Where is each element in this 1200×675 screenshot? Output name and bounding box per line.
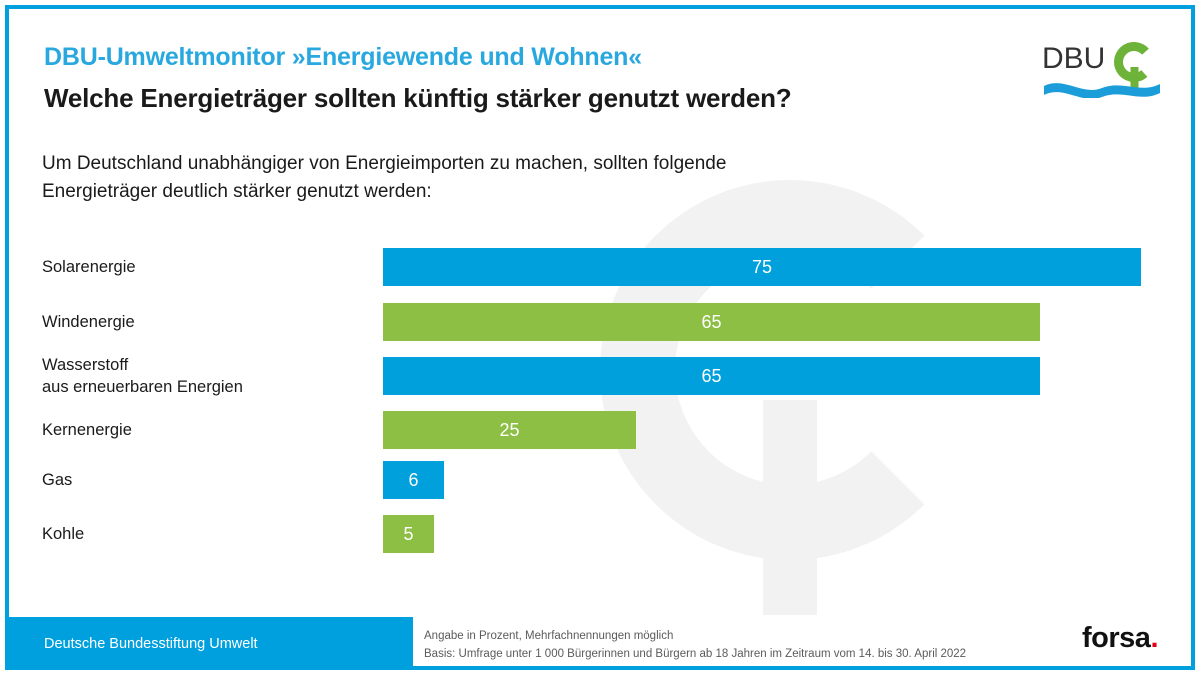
forsa-wordmark: forsa (1082, 622, 1150, 654)
kicker-title: DBU-Umweltmonitor »Energiewende und Wohn… (44, 44, 1004, 72)
bar-label: Gas (42, 469, 72, 491)
chart-row: Gas6 (0, 461, 1200, 499)
forsa-dot: . (1150, 622, 1158, 654)
chart-row: Wasserstoffaus erneuerbaren Energien65 (0, 357, 1200, 395)
bar-value-label: 5 (403, 525, 413, 543)
bar-label-line-1: Windenergie (42, 313, 135, 331)
question-line-2: Energieträger deutlich stärker genutzt w… (42, 178, 942, 206)
bar-value-label: 6 (408, 471, 418, 489)
bar-value-label: 75 (752, 258, 772, 276)
bar-label-line-1: Solarenergie (42, 258, 136, 276)
header-block: DBU-Umweltmonitor »Energiewende und Wohn… (44, 44, 1004, 113)
chart-row: Windenergie65 (0, 303, 1200, 341)
bar-value-label: 25 (499, 421, 519, 439)
chart-row: Solarenergie75 (0, 248, 1200, 286)
chart-row: Kohle5 (0, 515, 1200, 553)
bar: 75 (383, 248, 1141, 286)
bar-label: Wasserstoffaus erneuerbaren Energien (42, 354, 243, 399)
bar: 65 (383, 303, 1040, 341)
bar-label: Kohle (42, 523, 84, 545)
dbu-leaf-icon (1106, 36, 1162, 90)
bar-label: Windenergie (42, 311, 135, 333)
bar-label-line-2: aus erneuerbaren Energien (42, 378, 243, 396)
bar: 6 (383, 461, 444, 499)
bar-label: Solarenergie (42, 256, 136, 278)
bar-value-label: 65 (701, 367, 721, 385)
bar-chart: Solarenergie75Windenergie65Wasserstoffau… (0, 240, 1200, 560)
bar: 65 (383, 357, 1040, 395)
chart-row: Kernenergie25 (0, 411, 1200, 449)
page-title: Welche Energieträger sollten künftig stä… (44, 84, 1004, 114)
footnotes: Angabe in Prozent, Mehrfachnennungen mög… (424, 628, 966, 664)
bar-label-line-1: Kernenergie (42, 421, 132, 439)
bar-value-label: 65 (701, 313, 721, 331)
bar-label: Kernenergie (42, 419, 132, 441)
infographic-poster: DBU-Umweltmonitor »Energiewende und Wohn… (0, 0, 1200, 675)
forsa-logo: forsa. (1082, 624, 1158, 653)
footnote-unit: Angabe in Prozent, Mehrfachnennungen mög… (424, 628, 966, 646)
bar-label-line-1: Gas (42, 471, 72, 489)
footer-organisation-label: Deutsche Bundesstiftung Umwelt (44, 636, 258, 652)
bar: 25 (383, 411, 636, 449)
bar-label-line-1: Wasserstoff (42, 356, 128, 374)
dbu-wordmark: DBU (1042, 42, 1105, 75)
footnote-basis: Basis: Umfrage unter 1 000 Bürgerinnen u… (424, 646, 966, 664)
question-line-1: Um Deutschland unabhängiger von Energiei… (42, 150, 942, 178)
bar-label-line-1: Kohle (42, 525, 84, 543)
footer-organisation-bar: Deutsche Bundesstiftung Umwelt (5, 617, 413, 670)
dbu-logo: DBU (1042, 36, 1162, 98)
bar: 5 (383, 515, 434, 553)
question-text: Um Deutschland unabhängiger von Energiei… (42, 150, 942, 205)
